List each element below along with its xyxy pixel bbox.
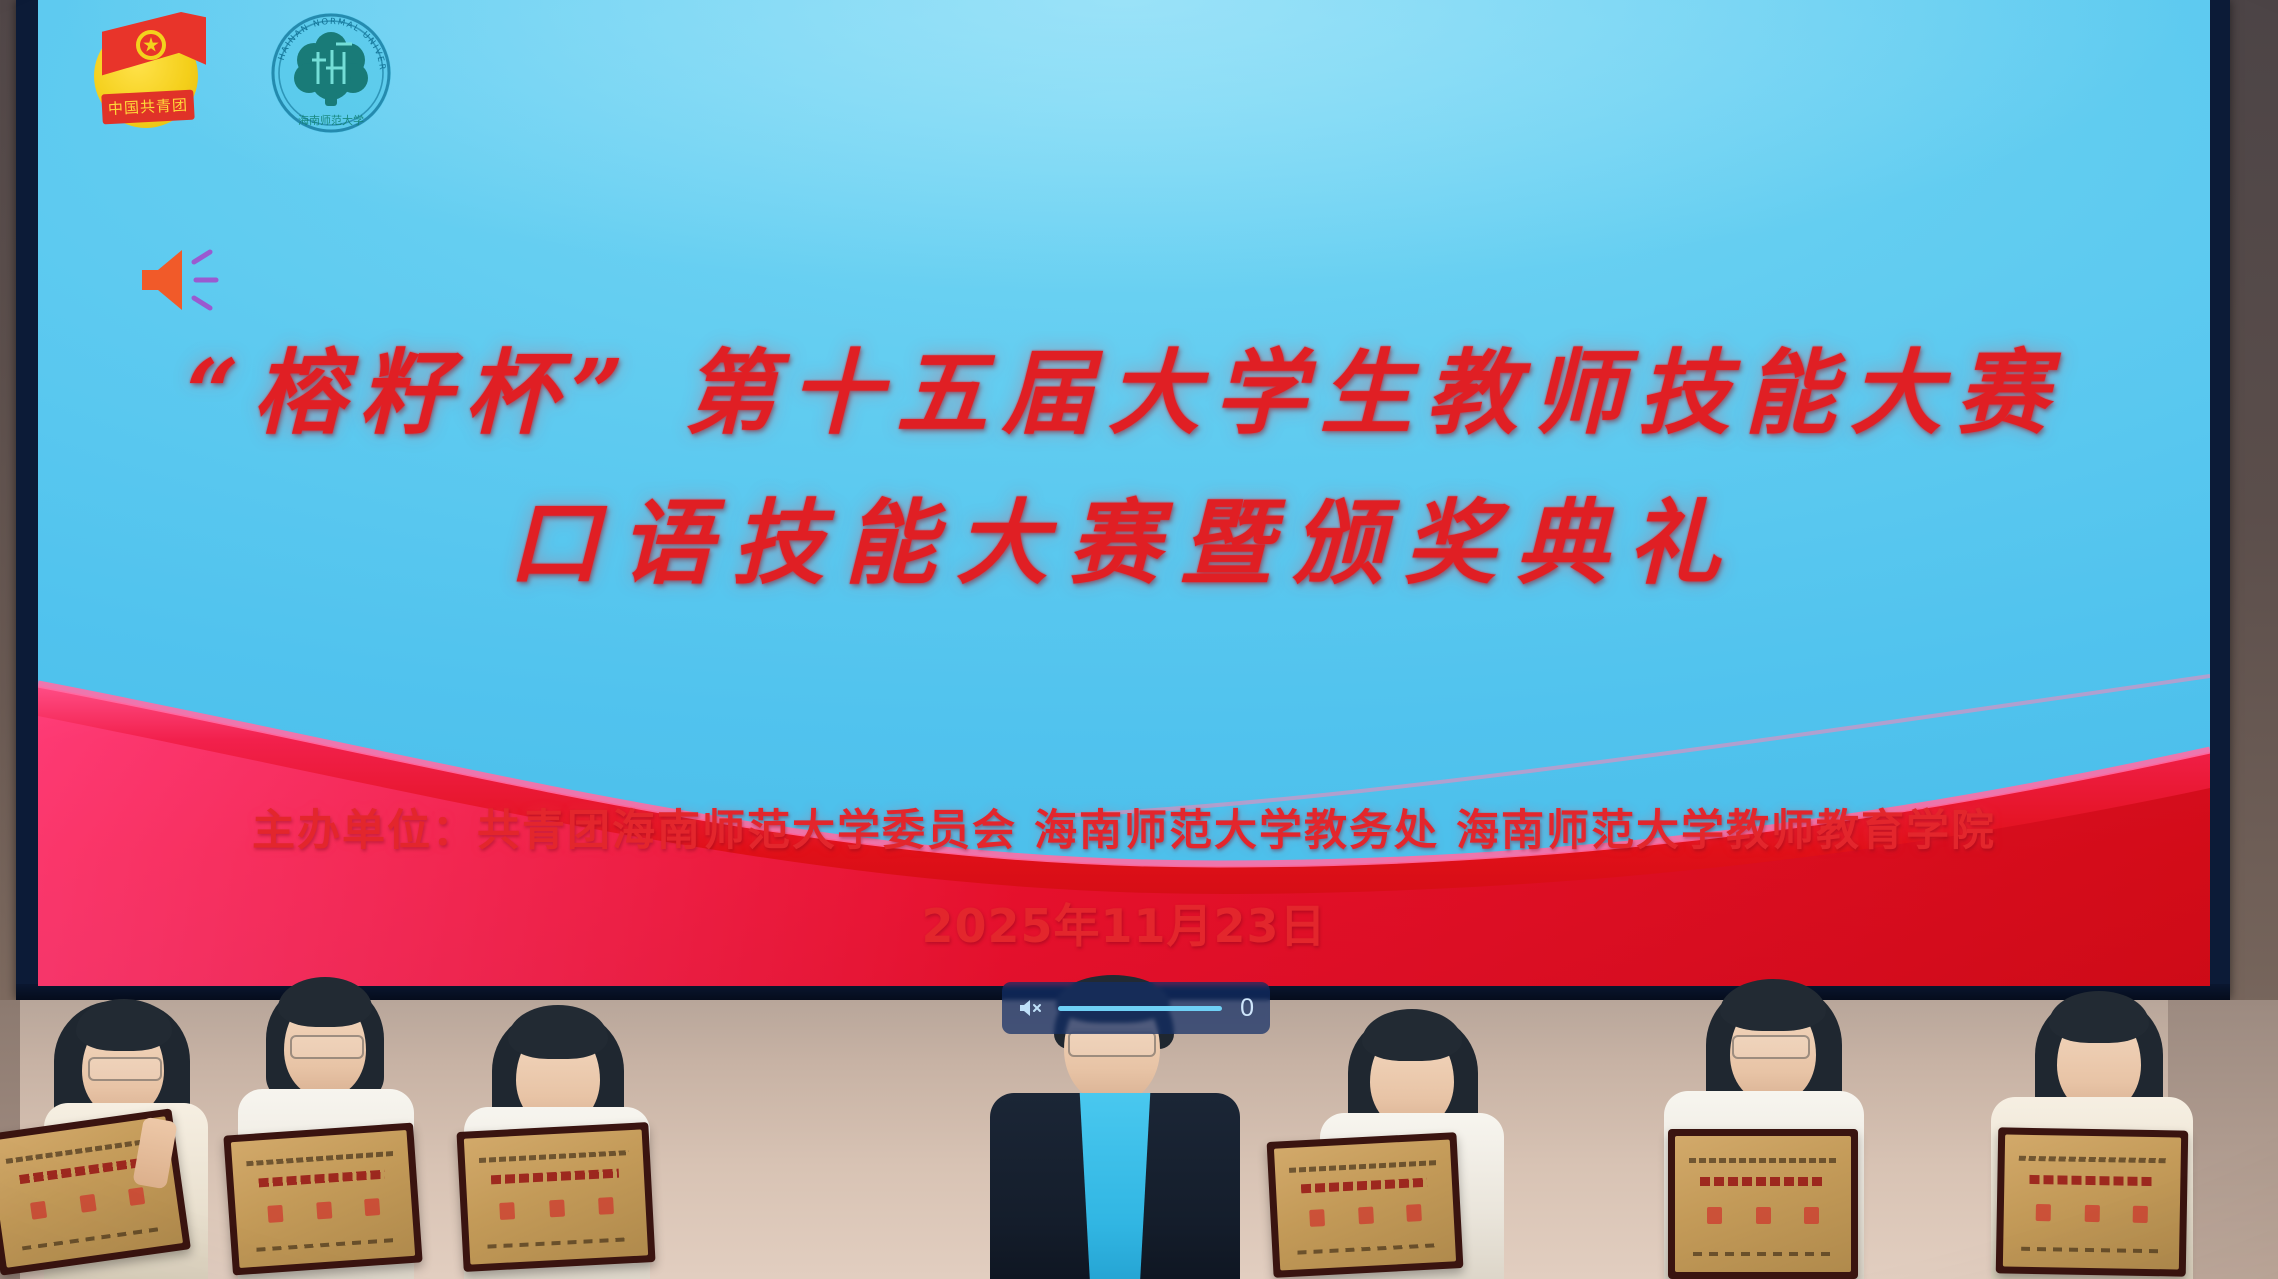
megaphone-icon [134, 238, 230, 322]
person-recipient-6 [1975, 987, 2245, 1279]
slide-logo-row: 中国共青团 [82, 8, 396, 138]
hair-top [2049, 991, 2149, 1043]
certificate-title-text [258, 1169, 385, 1187]
certificate-plaque [1668, 1129, 1858, 1279]
certificate-plaque [1996, 1127, 2189, 1276]
certificate-seal [1707, 1207, 1722, 1224]
certificate-face [1274, 1139, 1456, 1270]
certificate-seals [2035, 1204, 2148, 1223]
volume-value: 0 [1236, 996, 1254, 1021]
person-recipient-4 [1290, 991, 1540, 1279]
certificate-seals [1309, 1204, 1422, 1227]
slide-title-line-1: “榕籽杯” 第十五届大学生教师技能大赛 [38, 318, 2210, 468]
certificate-title-text [1300, 1177, 1427, 1193]
certificate-header-text [1689, 1158, 1837, 1163]
certificate-face [1675, 1136, 1851, 1272]
certificate-seal [30, 1200, 47, 1219]
certificate-seal [1804, 1207, 1819, 1224]
slide-date-line: 2025年11月23日 [38, 890, 2210, 956]
certificate-title-text [1700, 1177, 1827, 1186]
certificate-face [231, 1130, 415, 1268]
certificate-plaque [456, 1122, 655, 1272]
certificate-seal [2035, 1204, 2050, 1221]
certificate-footer-text [1297, 1244, 1438, 1255]
certificate-footer-text [2021, 1247, 2162, 1253]
certificate-seal [598, 1197, 614, 1215]
certificate-plaque [223, 1123, 422, 1276]
volume-slider-track[interactable] [1058, 1006, 1222, 1011]
certificate-seals [30, 1187, 145, 1220]
certificate-header-text [246, 1151, 394, 1166]
person-recipient-2 [210, 979, 440, 1279]
certificate-footer-text [1693, 1252, 1834, 1256]
certificate-header-text [2019, 1156, 2167, 1164]
certificate-face [464, 1129, 648, 1264]
certificate-seals [499, 1197, 614, 1220]
hair-top [1720, 979, 1826, 1031]
glasses-icon [1068, 1031, 1156, 1057]
certificate-seal [267, 1204, 283, 1222]
certificate-title-text [2029, 1174, 2156, 1185]
certificate-seals [267, 1198, 381, 1223]
certificate-seal [1309, 1210, 1325, 1228]
cyl-banner-text: 中国共青团 [101, 90, 194, 125]
slide-title-line-2: 口语技能大赛暨颁奖典礼 [38, 468, 2210, 618]
hair-top [278, 977, 372, 1027]
certificate-seal [79, 1193, 96, 1212]
volume-osd[interactable]: 0 [1002, 982, 1270, 1034]
certificate-seals [1707, 1207, 1820, 1224]
certificate-seal [2084, 1204, 2099, 1221]
certificate-seal [316, 1201, 332, 1219]
hair-top [508, 1005, 608, 1059]
presentation-slide: 中国共青团 [38, 0, 2210, 986]
glasses-icon [290, 1035, 364, 1059]
speaker-muted-icon[interactable] [1018, 997, 1044, 1019]
certificate-seal [499, 1202, 515, 1220]
certificate-plaque [1267, 1132, 1464, 1278]
certificate-title-text [19, 1158, 147, 1185]
certificate-footer-text [256, 1238, 397, 1252]
certificate-seal [1406, 1204, 1422, 1222]
certificate-seal [2133, 1205, 2148, 1222]
certificate-header-text [479, 1150, 629, 1163]
hainan-normal-university-seal-icon: HAINAN NORMAL UNIVERSITY 海南师范大学 [266, 8, 396, 138]
glasses-icon [1732, 1035, 1810, 1059]
certificate-seal [549, 1199, 565, 1217]
cyl-banner: 中国共青团 [101, 90, 194, 125]
certificate-footer-text [487, 1237, 629, 1248]
certificate-seal [1358, 1207, 1374, 1225]
communist-youth-league-emblem-icon: 中国共青团 [82, 8, 210, 134]
volume-slider[interactable] [1058, 999, 1222, 1017]
glasses-icon [88, 1057, 162, 1081]
person-recipient-3 [430, 993, 680, 1279]
hair-top [1362, 1009, 1462, 1061]
person-recipient-1 [10, 989, 240, 1279]
cyl-star-icon [136, 30, 166, 60]
certificate-seal [128, 1187, 145, 1206]
certificate-seal [364, 1198, 380, 1216]
certificate-title-text [491, 1168, 619, 1184]
person-recipient-5 [1650, 983, 1910, 1279]
svg-text:海南师范大学: 海南师范大学 [298, 113, 364, 127]
certificate-seal [1756, 1207, 1771, 1224]
slide-organizers-line: 主办单位：共青团海南师范大学委员会 海南师范大学教务处 海南师范大学教师教育学院 [38, 796, 2210, 858]
video-frame: 中国共青团 [0, 0, 2278, 1279]
certificate-face [2003, 1134, 2181, 1269]
certificate-header-text [1289, 1160, 1437, 1173]
certificate-footer-text [22, 1226, 164, 1250]
slide-title-block: “榕籽杯” 第十五届大学生教师技能大赛 口语技能大赛暨颁奖典礼 [38, 318, 2210, 618]
